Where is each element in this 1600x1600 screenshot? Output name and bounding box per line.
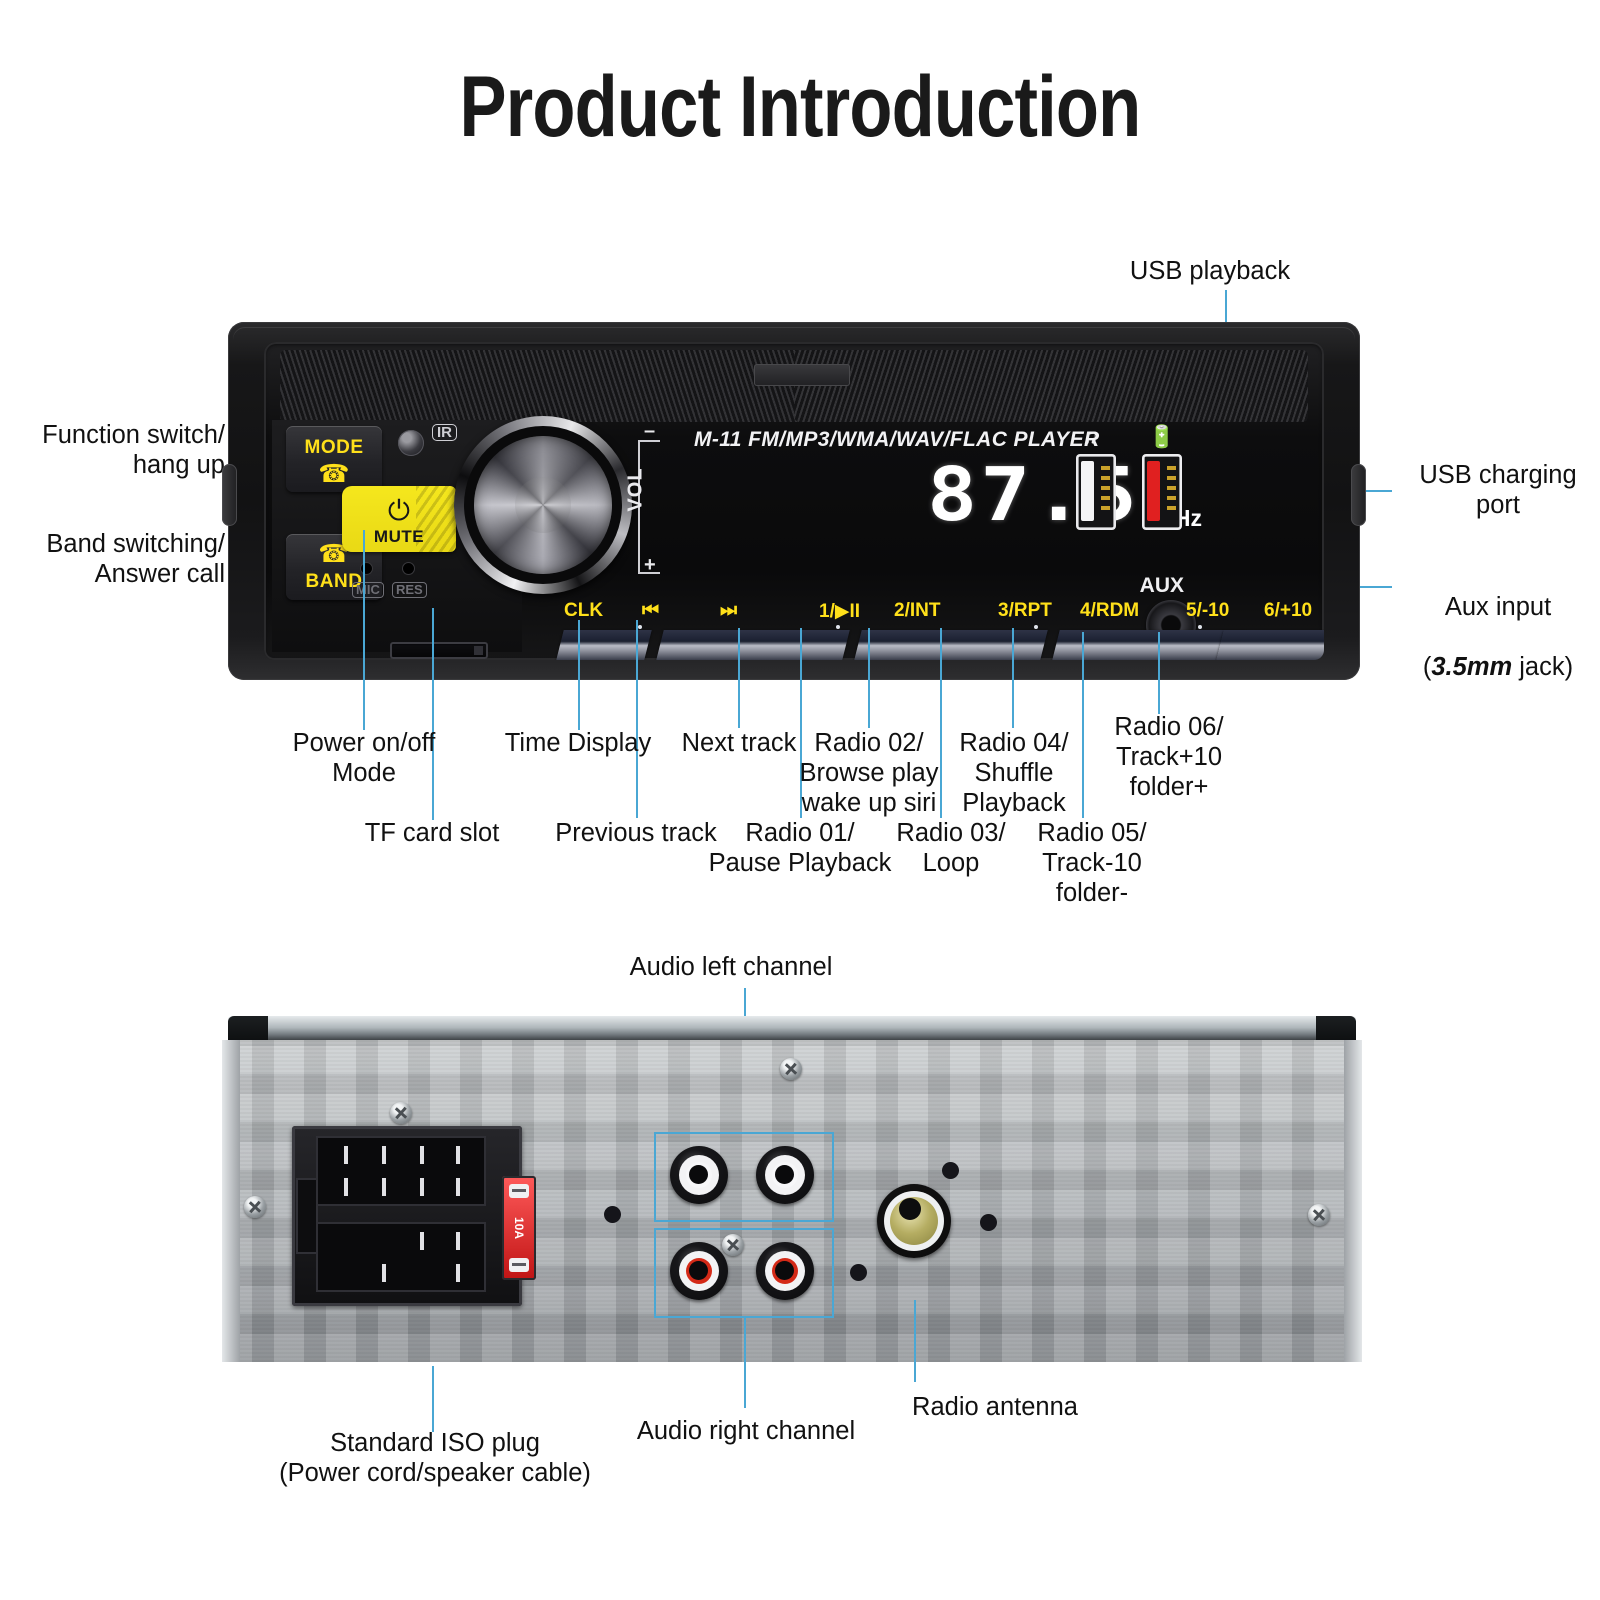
mount-ear-right <box>1351 464 1366 526</box>
front-unit: MODE ☎ ☎ BAND IR ⏻ MUTE MIC RES <box>228 322 1360 680</box>
iso-plug-bay-top <box>316 1136 486 1206</box>
callout-tf-card-slot: TF card slot <box>332 818 532 848</box>
mode-button-label: MODE <box>286 438 382 457</box>
usb-tongue <box>1147 461 1160 521</box>
function-button-labels: CLK ⏮ ⏭ 1/▶II 2/INT 3/RPT 4/RDM 5/-10 6/… <box>564 600 1324 626</box>
volume-knob[interactable] <box>454 416 632 594</box>
rca-jack-left-white[interactable] <box>756 1146 814 1204</box>
leader-audio-right <box>744 1316 746 1408</box>
fuse[interactable]: 10A <box>502 1176 536 1280</box>
button-dot <box>836 625 840 629</box>
fuse-rating: 10A <box>512 1217 526 1239</box>
res-label: RES <box>392 582 427 598</box>
callout-aux-input-line1: Aux input <box>1445 593 1551 621</box>
fn-label-next: ⏭ <box>720 600 737 622</box>
leader-radio-antenna <box>914 1300 916 1382</box>
reset-hole-icon[interactable] <box>402 562 415 575</box>
tf-card-slot[interactable] <box>390 642 488 659</box>
fn-label-prev: ⏮ <box>642 600 659 622</box>
vent-hole <box>942 1162 959 1179</box>
diagram-canvas: Product Introduction USB playback Functi… <box>0 0 1600 1600</box>
callout-radio-03: Radio 03/ Loop <box>888 818 1014 878</box>
grille-texture-right <box>794 350 1308 422</box>
button-1-2[interactable] <box>854 630 1047 660</box>
rear-unit: 10A <box>222 1016 1362 1364</box>
ir-sensor-icon <box>398 430 424 456</box>
callout-band-switching: Band switching/ Answer call <box>10 529 225 589</box>
aux-label: AUX <box>1140 574 1184 598</box>
leader-radio-04 <box>1012 628 1014 728</box>
usb-port-group: ♫ 🔋 <box>1076 424 1206 564</box>
fn-label-clk: CLK <box>564 600 603 622</box>
usb-tongue <box>1081 461 1094 521</box>
button-dot <box>1034 625 1038 629</box>
page-title: Product Introduction <box>144 58 1456 157</box>
vent-hole <box>850 1264 867 1281</box>
vent-hole <box>980 1214 997 1231</box>
leader-iso-plug <box>432 1366 434 1432</box>
callout-function-switch: Function switch/ hang up <box>10 420 225 480</box>
volume-label: VOL <box>625 467 648 511</box>
callout-radio-06: Radio 06/ Track+10 folder+ <box>1096 712 1242 802</box>
iso-plug-notch <box>296 1178 318 1254</box>
fn-label-4: 4/RDM <box>1080 600 1139 622</box>
callout-radio-04: Radio 04/ Shuffle Playback <box>944 728 1084 818</box>
callout-power-on-off: Power on/off Mode <box>253 728 475 788</box>
callout-aux-input: Aux input (3.5mm jack) <box>1392 562 1600 682</box>
vent-hole <box>604 1206 621 1223</box>
button-5-6[interactable] <box>1216 630 1324 660</box>
mic-label: MIC <box>352 582 384 598</box>
callout-radio-antenna: Radio antenna <box>872 1392 1118 1422</box>
fn-label-5: 5/-10 <box>1186 600 1229 622</box>
callout-usb-playback: USB playback <box>1060 256 1360 286</box>
power-icon: ⏻ <box>342 497 456 525</box>
mount-ear-left <box>222 464 237 526</box>
chassis-screw <box>390 1102 412 1124</box>
usb-pins <box>1101 466 1110 516</box>
fn-label-6: 6/+10 <box>1264 600 1312 622</box>
callout-time-display: Time Display <box>478 728 678 758</box>
fuse-cap <box>509 1184 529 1198</box>
rca-jack-right-red[interactable] <box>756 1242 814 1300</box>
rca-jack-left-white[interactable] <box>670 1146 728 1204</box>
fn-label-3: 3/RPT <box>998 600 1052 622</box>
usb-playback-port[interactable] <box>1076 454 1116 530</box>
callout-radio-05: Radio 05/ Track-10 folder- <box>1024 818 1160 908</box>
rca-jack-right-red[interactable] <box>670 1242 728 1300</box>
leader-power-mode <box>363 530 365 730</box>
volume-plus-label: + <box>644 554 656 577</box>
rear-edge-right <box>1344 1040 1362 1362</box>
mic-hole-icon <box>360 562 373 575</box>
fn-label-2: 2/INT <box>894 600 940 622</box>
callout-iso-plug: Standard ISO plug (Power cord/speaker ca… <box>200 1428 670 1488</box>
volume-minus-label: – <box>644 420 655 443</box>
rear-edge-left <box>222 1040 240 1362</box>
model-format-line: M-11 FM/MP3/WMA/WAV/FLAC PLAYER <box>694 428 1100 452</box>
leader-radio-02 <box>868 628 870 728</box>
leader-tf-card <box>432 608 434 820</box>
usb-charging-port[interactable] <box>1142 454 1182 530</box>
chassis-screw <box>780 1058 802 1080</box>
leader-time-display <box>578 620 580 730</box>
grille-window <box>754 364 850 386</box>
callout-audio-left: Audio left channel <box>600 952 862 982</box>
phone-hangup-icon: ☎ <box>286 462 382 487</box>
leader-previous-track <box>636 620 638 818</box>
fuse-cap <box>509 1258 529 1272</box>
callout-radio-01: Radio 01/ Pause Playback <box>698 818 902 878</box>
callout-aux-input-close: jack) <box>1512 653 1573 681</box>
iso-plug-connector[interactable]: 10A <box>292 1126 522 1306</box>
chassis-screw <box>244 1196 266 1218</box>
leader-next-track <box>738 628 740 728</box>
button-dot <box>1198 625 1202 629</box>
volume-scale: – + VOL <box>630 426 668 588</box>
button-prev-next[interactable] <box>656 630 849 660</box>
music-note-icon: ♫ <box>1082 424 1099 450</box>
callout-aux-input-spec: 3.5mm <box>1431 653 1512 681</box>
callout-usb-charging: USB charging port <box>1392 460 1600 520</box>
mode-button[interactable]: MODE ☎ <box>286 426 382 492</box>
radio-antenna-socket[interactable] <box>877 1184 951 1258</box>
callout-radio-02: Radio 02/ Browse play wake up siri <box>790 728 948 818</box>
chassis-screw <box>1308 1204 1330 1226</box>
front-faceplate: MODE ☎ ☎ BAND IR ⏻ MUTE MIC RES <box>264 342 1324 660</box>
leader-radio-06 <box>1158 632 1160 714</box>
button-dot <box>638 625 642 629</box>
fn-label-1: 1/▶II <box>819 600 860 623</box>
mute-power-button[interactable]: ⏻ MUTE <box>342 486 456 552</box>
callout-audio-right: Audio right channel <box>608 1416 884 1446</box>
mute-button-label: MUTE <box>342 528 456 545</box>
knob-dial[interactable] <box>474 436 612 574</box>
iso-plug-bay-bottom <box>316 1222 486 1292</box>
rear-top-edge <box>228 1016 1356 1042</box>
usb-pins <box>1167 466 1176 516</box>
battery-charge-icon: 🔋 <box>1148 424 1175 450</box>
